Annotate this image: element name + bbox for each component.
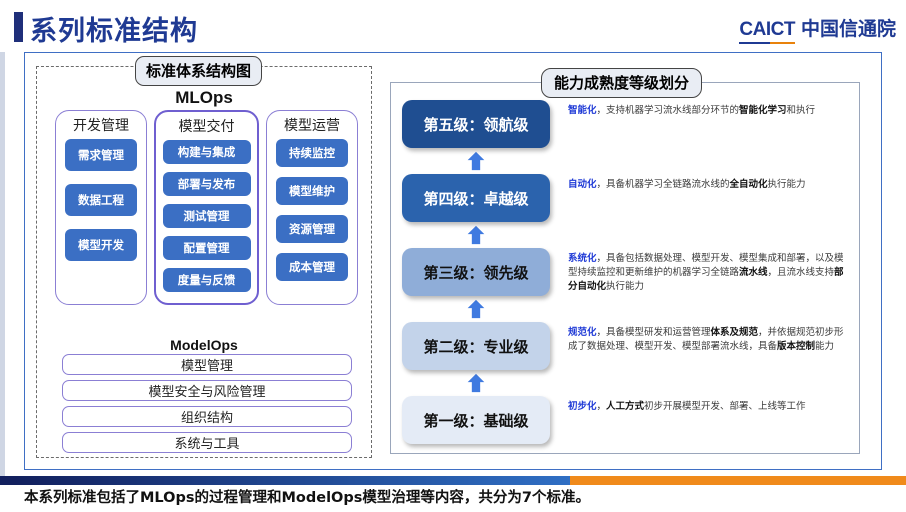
level-up-arrow-container <box>402 370 550 396</box>
maturity-level-description: 系统化，具备包括数据处理、模型开发、模型集成和部署，以及模型持续监控和更新维护的… <box>568 248 846 293</box>
mlops-column-header: 开发管理 <box>73 115 129 135</box>
caict-logo: CAICT 中国信通院 <box>739 14 896 44</box>
maturity-level-box[interactable]: 第一级：基础级 <box>402 396 550 444</box>
maturity-level-box[interactable]: 第三级：领先级 <box>402 248 550 296</box>
mlops-item-chip[interactable]: 模型维护 <box>276 177 348 205</box>
modelops-bar[interactable]: 系统与工具 <box>62 432 352 453</box>
mlops-item-chip[interactable]: 数据工程 <box>65 184 137 216</box>
mlops-item-chip[interactable]: 构建与集成 <box>163 140 251 164</box>
maturity-level-box[interactable]: 第二级：专业级 <box>402 322 550 370</box>
title-accent-bar <box>14 12 23 42</box>
maturity-level-row: 第三级：领先级系统化，具备包括数据处理、模型开发、模型集成和部署，以及模型持续监… <box>402 248 852 296</box>
strip-navy-segment <box>0 476 14 485</box>
mlops-item-chip[interactable]: 配置管理 <box>163 236 251 260</box>
page-header: 系列标准结构 CAICT 中国信通院 <box>0 0 906 52</box>
maturity-level-description: 规范化，具备模型研发和运营管理体系及规范，并依据规范初步形成了数据处理、模型开发… <box>568 322 846 354</box>
modelops-bar[interactable]: 组织结构 <box>62 406 352 427</box>
level-up-arrow-container <box>402 148 550 174</box>
arrow-up-icon <box>466 299 486 319</box>
mlops-column-header: 模型运营 <box>284 115 340 135</box>
mlops-column: 模型运营持续监控模型维护资源管理成本管理 <box>266 110 358 305</box>
modelops-label: ModelOps <box>36 337 372 353</box>
arrow-up-icon <box>466 225 486 245</box>
modelops-bar[interactable]: 模型安全与风险管理 <box>62 380 352 401</box>
strip-orange-segment <box>570 476 906 485</box>
mlops-column-header: 模型交付 <box>179 116 235 136</box>
maturity-level-row: 第五级：领航级智能化，支持机器学习流水线部分环节的智能化学习和执行 <box>402 100 852 148</box>
maturity-level-list: 第五级：领航级智能化，支持机器学习流水线部分环节的智能化学习和执行第四级：卓越级… <box>402 100 852 444</box>
mlops-item-chip[interactable]: 测试管理 <box>163 204 251 228</box>
mlops-item-chip[interactable]: 持续监控 <box>276 139 348 167</box>
mlops-item-chip[interactable]: 成本管理 <box>276 253 348 281</box>
logo-chinese-text: 中国信通院 <box>801 14 896 44</box>
mlops-item-chip[interactable]: 模型开发 <box>65 229 137 261</box>
maturity-level-description: 自动化，具备机器学习全链路流水线的全自动化执行能力 <box>568 174 846 192</box>
mlops-label: MLOps <box>36 88 372 108</box>
strip-blue-segment <box>14 476 570 485</box>
mlops-item-chip[interactable]: 资源管理 <box>276 215 348 243</box>
maturity-level-row: 第四级：卓越级自动化，具备机器学习全链路流水线的全自动化执行能力 <box>402 174 852 222</box>
standards-architecture-title: 标准体系结构图 <box>135 56 262 86</box>
arrow-up-icon <box>466 151 486 171</box>
mlops-item-chip[interactable]: 部署与发布 <box>163 172 251 196</box>
maturity-level-box[interactable]: 第四级：卓越级 <box>402 174 550 222</box>
mlops-column: 开发管理需求管理数据工程模型开发 <box>55 110 147 305</box>
mlops-columns: 开发管理需求管理数据工程模型开发模型交付构建与集成部署与发布测试管理配置管理度量… <box>55 110 360 305</box>
footer-summary-text: 本系列标准包括了MLOps的过程管理和ModelOps模型治理等内容，共分为7个… <box>24 486 894 507</box>
left-edge-strip <box>0 52 5 476</box>
maturity-level-description: 初步化，人工方式初步开展模型开发、部署、上线等工作 <box>568 396 846 414</box>
arrow-up-icon <box>466 373 486 393</box>
logo-caict-text: CAICT <box>739 19 795 44</box>
mlops-item-chip[interactable]: 需求管理 <box>65 139 137 171</box>
maturity-level-description: 智能化，支持机器学习流水线部分环节的智能化学习和执行 <box>568 100 846 118</box>
mlops-column: 模型交付构建与集成部署与发布测试管理配置管理度量与反馈 <box>154 110 259 305</box>
level-up-arrow-container <box>402 296 550 322</box>
page-title: 系列标准结构 <box>30 9 198 48</box>
modelops-bar-list: 模型管理模型安全与风险管理组织结构系统与工具 <box>62 354 352 458</box>
maturity-level-box[interactable]: 第五级：领航级 <box>402 100 550 148</box>
maturity-level-row: 第一级：基础级初步化，人工方式初步开展模型开发、部署、上线等工作 <box>402 396 852 444</box>
footer-color-strip <box>0 476 906 485</box>
level-up-arrow-container <box>402 222 550 248</box>
mlops-item-chip[interactable]: 度量与反馈 <box>163 268 251 292</box>
maturity-panel-title: 能力成熟度等级划分 <box>541 68 702 98</box>
maturity-level-row: 第二级：专业级规范化，具备模型研发和运营管理体系及规范，并依据规范初步形成了数据… <box>402 322 852 370</box>
modelops-bar[interactable]: 模型管理 <box>62 354 352 375</box>
